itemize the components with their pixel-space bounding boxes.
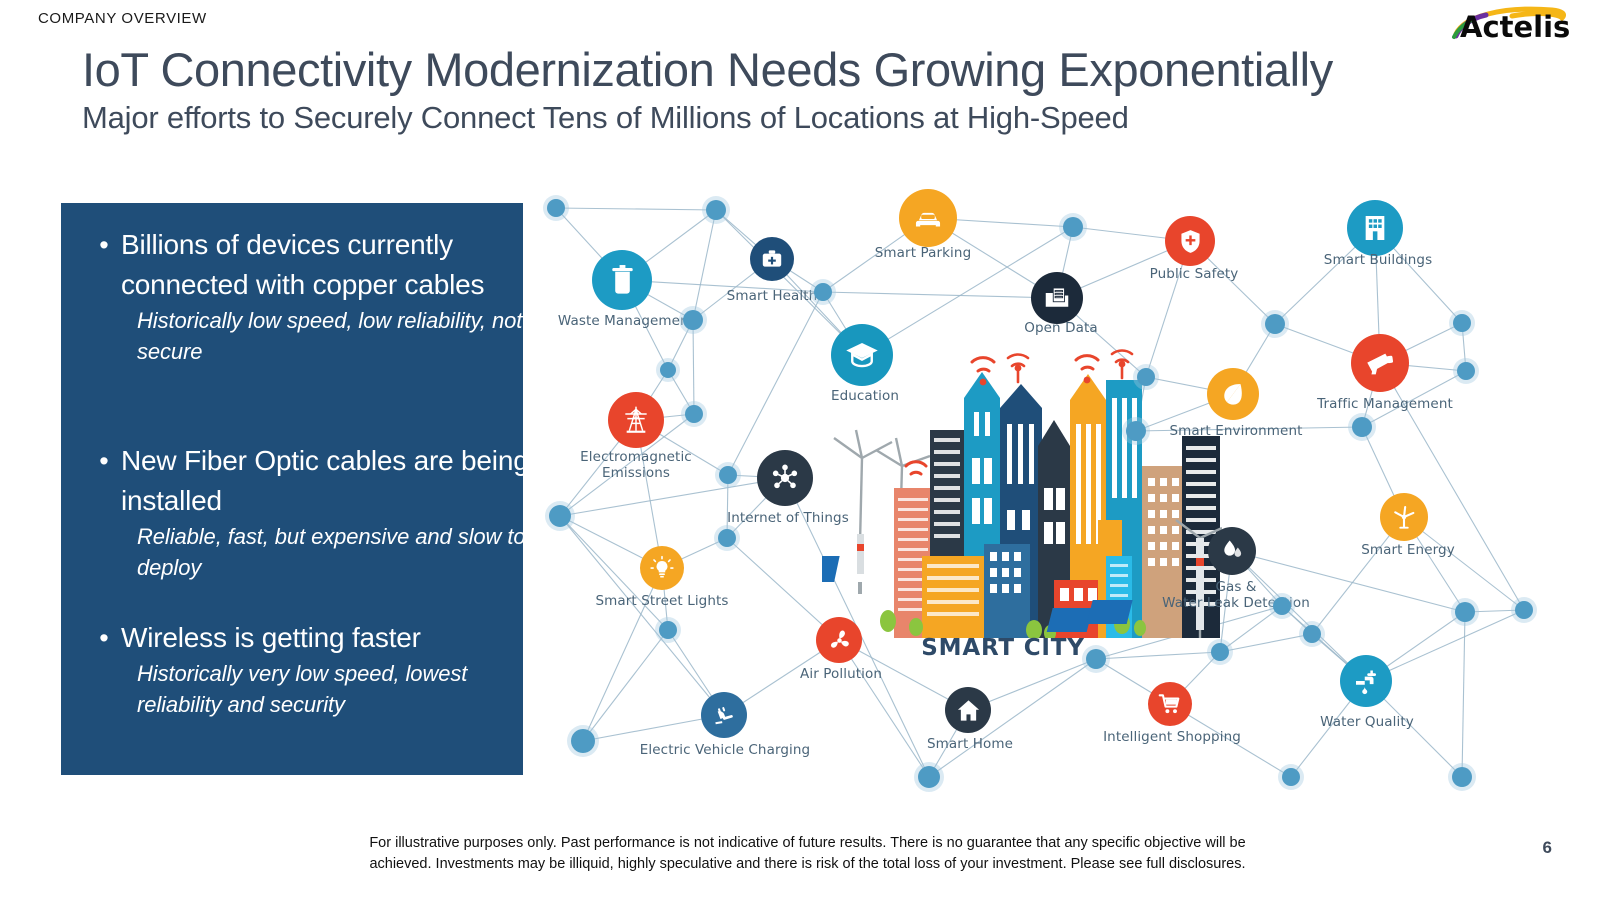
network-junction-node [685,405,703,423]
node-label: ElectromagneticEmissions [580,449,692,481]
node-label: Smart Parking [875,245,971,261]
medical-kit-icon [759,246,785,272]
trash-icon [605,263,640,298]
node-medical-kit-icon[interactable] [750,237,794,281]
node-lightbulb-icon[interactable] [640,546,684,590]
node-folder-doc-icon[interactable] [1031,272,1083,324]
bullet-dot-icon: • [87,441,121,521]
bullet-subtext: Reliable, fast, but expensive and slow t… [137,521,549,583]
network-junction-node [660,362,676,378]
lightbulb-icon [649,555,675,581]
node-wind-turbine-icon[interactable] [1380,493,1428,541]
node-label: Internet of Things [727,510,849,526]
node-label: Smart Environment [1169,423,1302,439]
power-tower-icon [620,404,652,436]
bullet-subtext: Historically very low speed, lowest reli… [137,658,549,720]
leaf-icon [1218,379,1248,409]
network-junction-node [814,283,832,301]
node-iot-network-icon[interactable] [757,450,813,506]
actelis-logo: Actelis [1434,4,1574,46]
car-icon [911,201,945,235]
bullet-dot-icon: • [87,225,121,305]
flame-drop-icon [1218,537,1246,565]
cctv-camera-icon [1363,346,1397,380]
node-label: Smart Energy [1361,542,1455,558]
node-label: Public Safety [1150,266,1239,282]
node-label: Traffic Management [1317,396,1453,412]
node-shopping-cart-icon[interactable] [1148,682,1192,726]
node-label: Electric Vehicle Charging [640,742,810,758]
house-icon [955,697,982,724]
network-junction-node [918,766,940,788]
bullet-dot-icon: • [87,618,121,658]
bullet-text: Billions of devices currently connected … [121,225,549,305]
node-car-icon[interactable] [899,189,957,247]
network-junction-node [1453,314,1471,332]
network-junction-node [1137,368,1155,386]
graduation-cap-icon [844,337,880,373]
bullet-item: • Billions of devices currently connecte… [61,225,575,367]
node-leaf-icon[interactable] [1207,368,1259,420]
node-building-icon[interactable] [1347,200,1403,256]
network-junction-node [1452,767,1472,787]
node-house-icon[interactable] [945,687,991,733]
network-junction-node [1515,601,1533,619]
bullet-text: Wireless is getting faster [121,618,421,658]
network-junction-node [719,466,737,484]
network-junction-node [1086,649,1106,669]
iot-network-icon [769,462,801,494]
shield-icon [1176,227,1205,256]
wind-turbine-icon [1390,503,1418,531]
bullet-text: New Fiber Optic cables are being install… [121,441,549,521]
network-junction-node [1211,643,1229,661]
node-label: Waste Management [558,313,694,329]
node-fan-icon[interactable] [816,617,862,663]
bullet-subtext: Historically low speed, low reliability,… [137,305,549,367]
node-label: Smart Street Lights [595,593,728,609]
node-label: Smart Health [727,288,818,304]
fan-icon [826,627,853,654]
network-junction-node [718,529,736,547]
building-icon [1359,212,1391,244]
network-junction-node [1126,421,1146,441]
smart-city-label: SMART CITY [921,635,1084,661]
shopping-cart-icon [1157,691,1183,717]
eyebrow-label: COMPANY OVERVIEW [38,10,207,27]
network-junction-node [1352,417,1372,437]
node-label: Education [831,388,899,404]
disclaimer-text: For illustrative purposes only. Past per… [345,833,1270,875]
network-junction-node [706,200,726,220]
node-graduation-cap-icon[interactable] [831,324,893,386]
node-faucet-icon[interactable] [1340,655,1392,707]
network-junction-node [1455,602,1475,622]
page-number: 6 [1543,838,1552,858]
node-flame-drop-icon[interactable] [1208,527,1256,575]
node-label: Water Quality [1320,714,1414,730]
node-label: Open Data [1024,320,1097,336]
node-power-tower-icon[interactable] [608,392,664,448]
node-ev-plug-icon[interactable] [701,692,747,738]
network-junction-node [1265,314,1285,334]
smart-city-network-diagram: SMART CITY Waste ManagementSmart HealthS… [540,188,1540,800]
network-junction-node [547,199,565,217]
network-junction-node [549,505,571,527]
node-label: Smart Home [927,736,1013,752]
node-trash-icon[interactable] [592,250,652,310]
node-label: Intelligent Shopping [1103,729,1241,745]
network-junction-node [659,621,677,639]
page-subtitle: Major efforts to Securely Connect Tens o… [82,100,1129,136]
ev-plug-icon [711,702,738,729]
node-label: Smart Buildings [1324,252,1432,268]
node-shield-icon[interactable] [1165,216,1215,266]
network-junction-node [683,310,703,330]
node-cctv-camera-icon[interactable] [1351,334,1409,392]
page-title: IoT Connectivity Modernization Needs Gro… [82,42,1333,97]
network-junction-node [1063,217,1083,237]
network-junction-node [1457,362,1475,380]
key-points-panel: • Billions of devices currently connecte… [61,203,523,775]
faucet-icon [1351,666,1381,696]
network-junction-node [571,729,595,753]
network-junction-node [1273,597,1291,615]
folder-doc-icon [1042,283,1072,313]
bullet-item: • Wireless is getting faster Historicall… [61,618,575,720]
network-junction-node [1282,768,1300,786]
node-label: Air Pollution [800,666,882,682]
network-junction-node [1303,625,1321,643]
logo-wordmark: Actelis [1460,10,1570,44]
bullet-item: • New Fiber Optic cables are being insta… [61,441,575,583]
